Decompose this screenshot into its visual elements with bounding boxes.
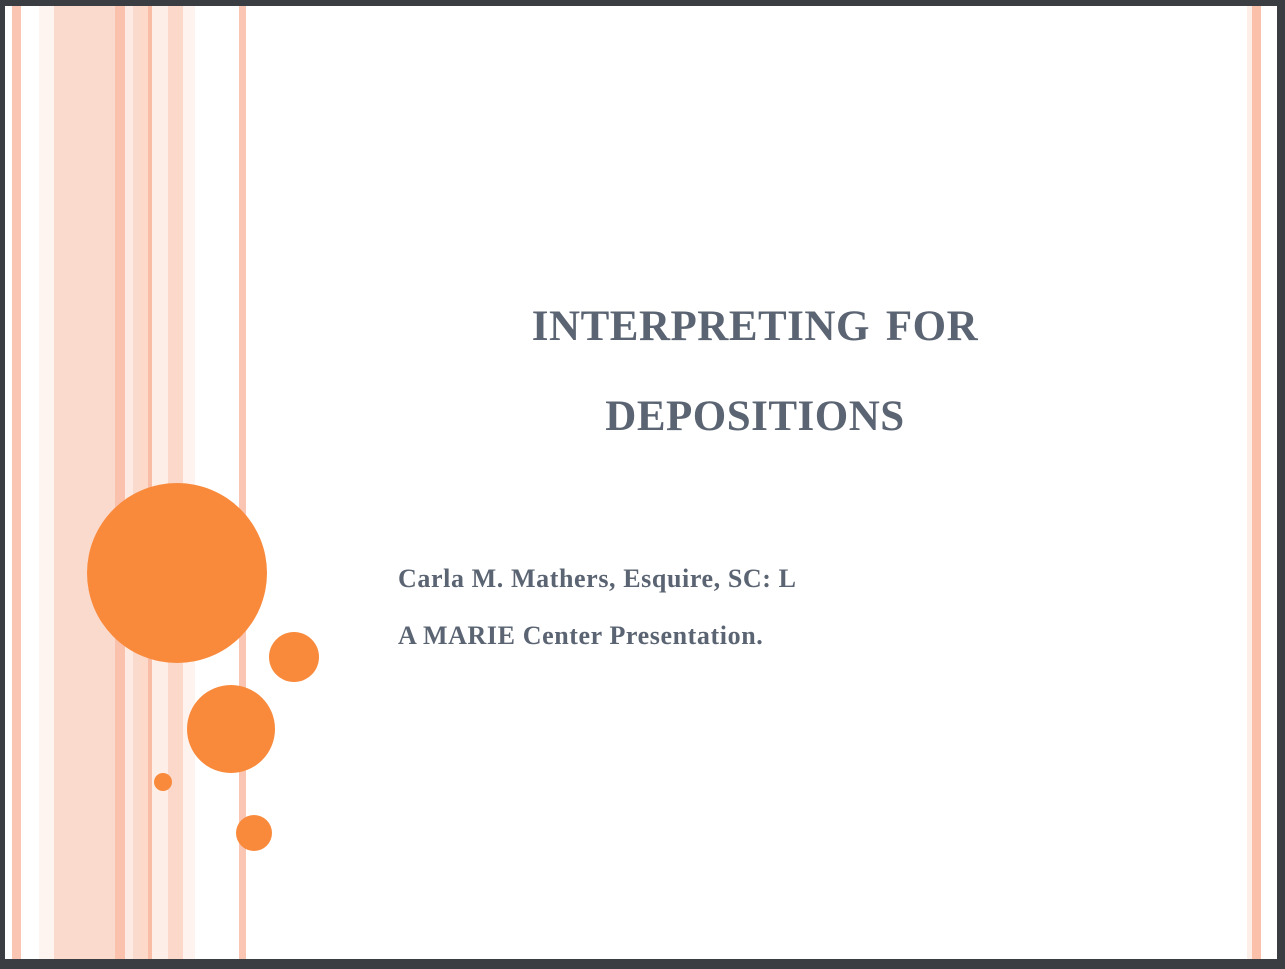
subtitle-block: Carla M. Mathers, Esquire, SC: L A MARIE… bbox=[398, 554, 1098, 669]
slide-canvas: Interpreting for Depositions Carla M. Ma… bbox=[5, 6, 1277, 959]
stripe-salmon-2 bbox=[115, 6, 125, 959]
stripe-light-2 bbox=[133, 6, 140, 959]
subtitle-line-presenter: Carla M. Mathers, Esquire, SC: L bbox=[398, 554, 1098, 603]
decorative-stripes-right bbox=[1247, 6, 1277, 959]
page-title: Interpreting for Depositions bbox=[395, 276, 1115, 456]
circle-large bbox=[87, 483, 267, 663]
stripe-right-salmon bbox=[1252, 6, 1261, 959]
subtitle-line-organization: A MARIE Center Presentation. bbox=[398, 611, 1098, 660]
circle-small-right bbox=[269, 632, 319, 682]
stripe-salmon-3 bbox=[148, 6, 152, 959]
title-block: Interpreting for Depositions bbox=[395, 276, 1115, 456]
slide-frame: Interpreting for Depositions Carla M. Ma… bbox=[0, 0, 1285, 969]
stripe-right-pale bbox=[1247, 6, 1252, 959]
stripe-faint-1 bbox=[39, 6, 54, 959]
stripe-pale-1 bbox=[125, 6, 133, 959]
stripe-light-1 bbox=[54, 6, 115, 959]
stripe-pale-2 bbox=[152, 6, 168, 959]
circle-tiny bbox=[154, 773, 172, 791]
circle-medium bbox=[187, 685, 275, 773]
stripe-mid-1 bbox=[140, 6, 148, 959]
circle-bottom bbox=[236, 815, 272, 851]
stripe-salmon-1 bbox=[12, 6, 21, 959]
